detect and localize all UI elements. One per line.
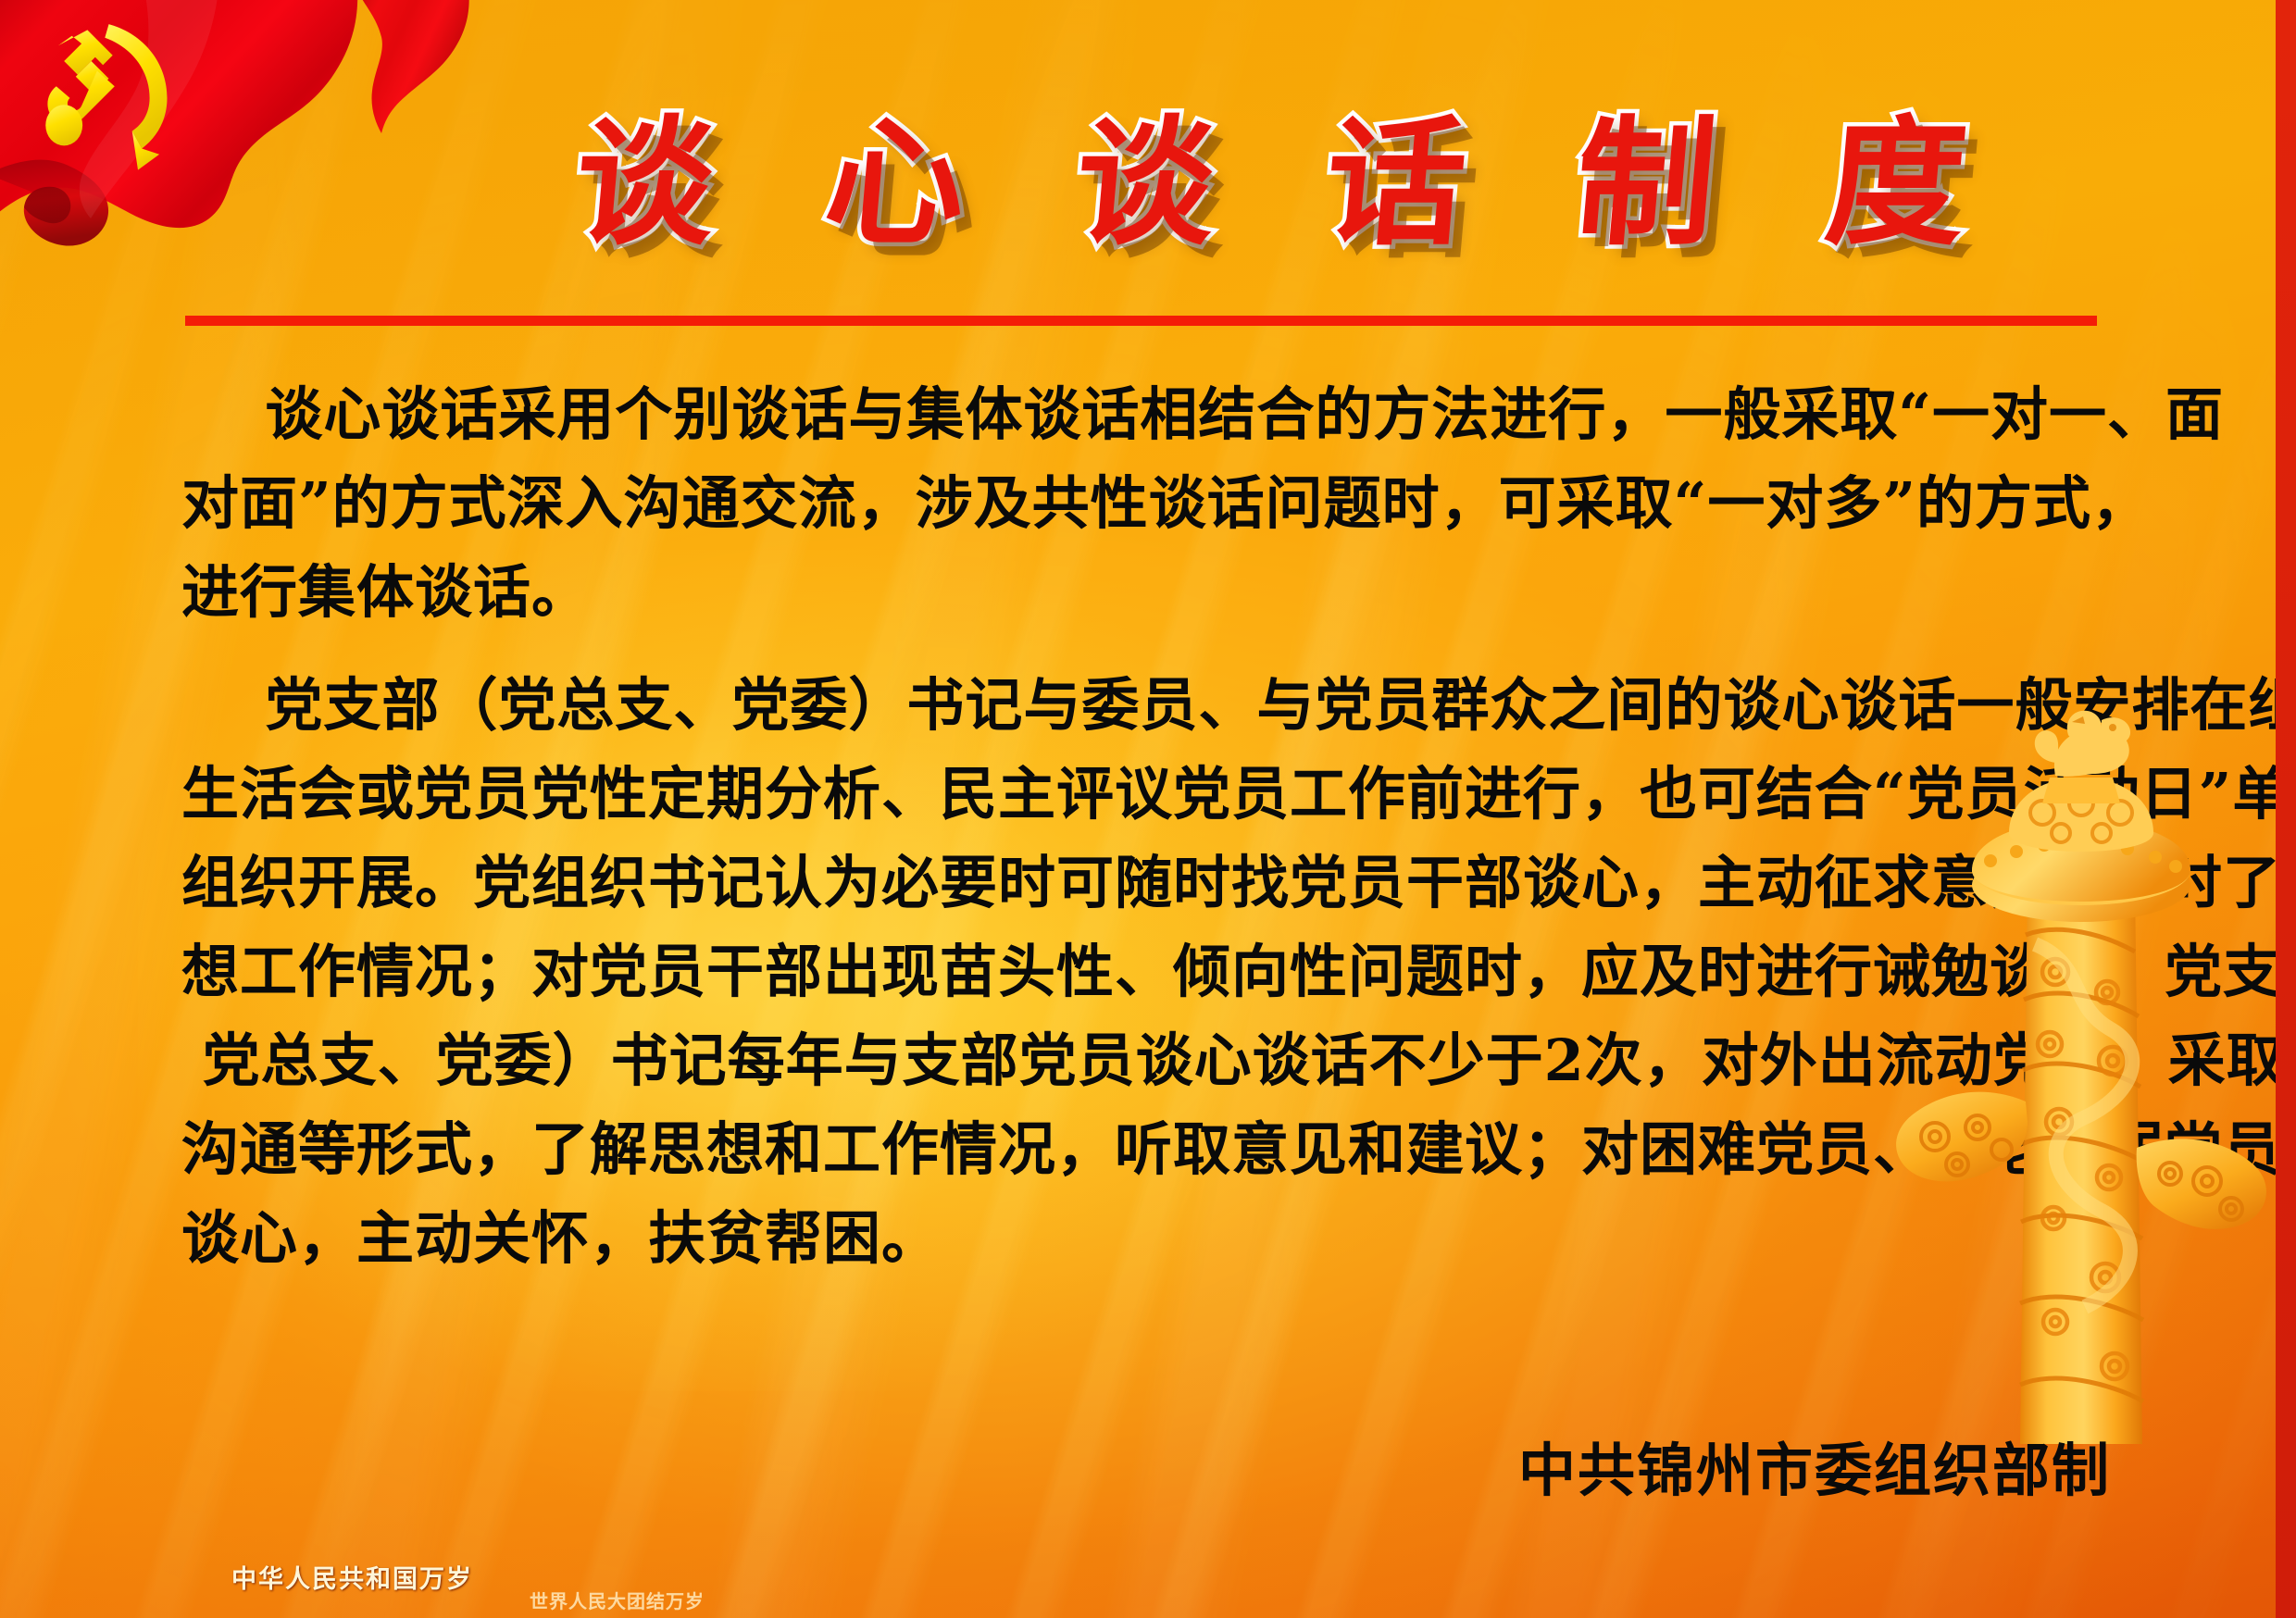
paragraph-2-line-4: 想工作情况；对党员干部出现苗头性、倾向性问题时，应及时进行诫勉谈话。党支部（ — [181, 927, 2112, 1016]
paragraph-2-line-2: 生活会或党员党性定期分析、民主评议党员工作前进行，也可结合“党员活动日”单独 — [181, 750, 2112, 839]
paragraph-2-line-1: 党支部（党总支、党委）书记与委员、与党员群众之间的谈心谈话一般安排在组织 — [181, 661, 2112, 750]
tiananmen-banner-right-label: 世界人民大团结万岁 — [530, 1587, 705, 1613]
poster-title-row: 谈 心 谈 话 制 度 — [0, 111, 2296, 257]
body-copy: 谈心谈话采用个别谈话与集体谈话相结合的方法进行，一般采取“一对一、面 对面”的方… — [181, 370, 2112, 1307]
page-title: 谈 心 谈 话 制 度 — [570, 111, 2004, 257]
paragraph-2-line-6: 沟通等形式，了解思想和工作情况，听取意见和建议；对困难党员、年老体弱党员上门 — [181, 1105, 2112, 1194]
poster-canvas: 谈 心 谈 话 制 度 谈心谈话采用个别谈话与集体谈话相结合的方法进行，一般采取… — [0, 0, 2296, 1618]
paragraph-2-line-7: 谈心，主动关怀，扶贫帮困。 — [181, 1194, 2112, 1283]
paragraph-2-line-3: 组织开展。党组织书记认为必要时可随时找党员干部谈心，主动征求意见和及时了解思 — [181, 839, 2112, 927]
title-divider-rule — [185, 316, 2097, 326]
right-border-strip — [2276, 0, 2296, 1618]
paragraph-2-line-5: 党总支、党委）书记每年与支部党员谈心谈话不少于2次，对外出流动党员，采取电话 — [181, 1016, 2112, 1105]
paragraph-2: 党支部（党总支、党委）书记与委员、与党员群众之间的谈心谈话一般安排在组织 生活会… — [181, 661, 2112, 1283]
paragraph-1: 谈心谈话采用个别谈话与集体谈话相结合的方法进行，一般采取“一对一、面 对面”的方… — [181, 370, 2112, 637]
paragraph-1-line-3: 进行集体谈话。 — [181, 548, 2112, 637]
paragraph-1-line-2: 对面”的方式深入沟通交流，涉及共性谈话问题时，可采取“一对多”的方式， — [181, 459, 2112, 548]
paragraph-1-line-1: 谈心谈话采用个别谈话与集体谈话相结合的方法进行，一般采取“一对一、面 — [181, 370, 2112, 459]
tiananmen-banner-left-label: 中华人民共和国万岁 — [231, 1559, 472, 1595]
issuer-signature: 中共锦州市委组织部制 — [1518, 1424, 2111, 1507]
